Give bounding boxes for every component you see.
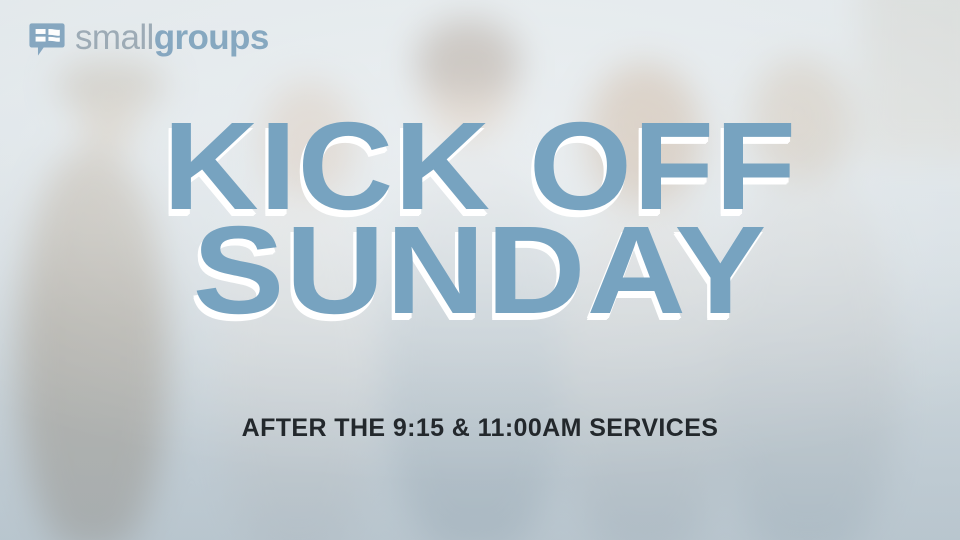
slide-canvas: smallgroups KICK OFF SUNDAY AFTER THE 9:… [0,0,960,540]
subtitle-service-times: AFTER THE 9:15 & 11:00AM SERVICES [0,414,960,443]
logo-word-groups: groups [154,18,269,57]
smallgroups-logo: smallgroups [28,20,269,58]
logo-wordmark: smallgroups [75,20,269,58]
headline-block: KICK OFF SUNDAY [0,112,960,326]
logo-word-small: small [75,18,154,57]
headline-line-2: SUNDAY [0,216,960,326]
speech-bubble-flag-icon [28,20,66,58]
